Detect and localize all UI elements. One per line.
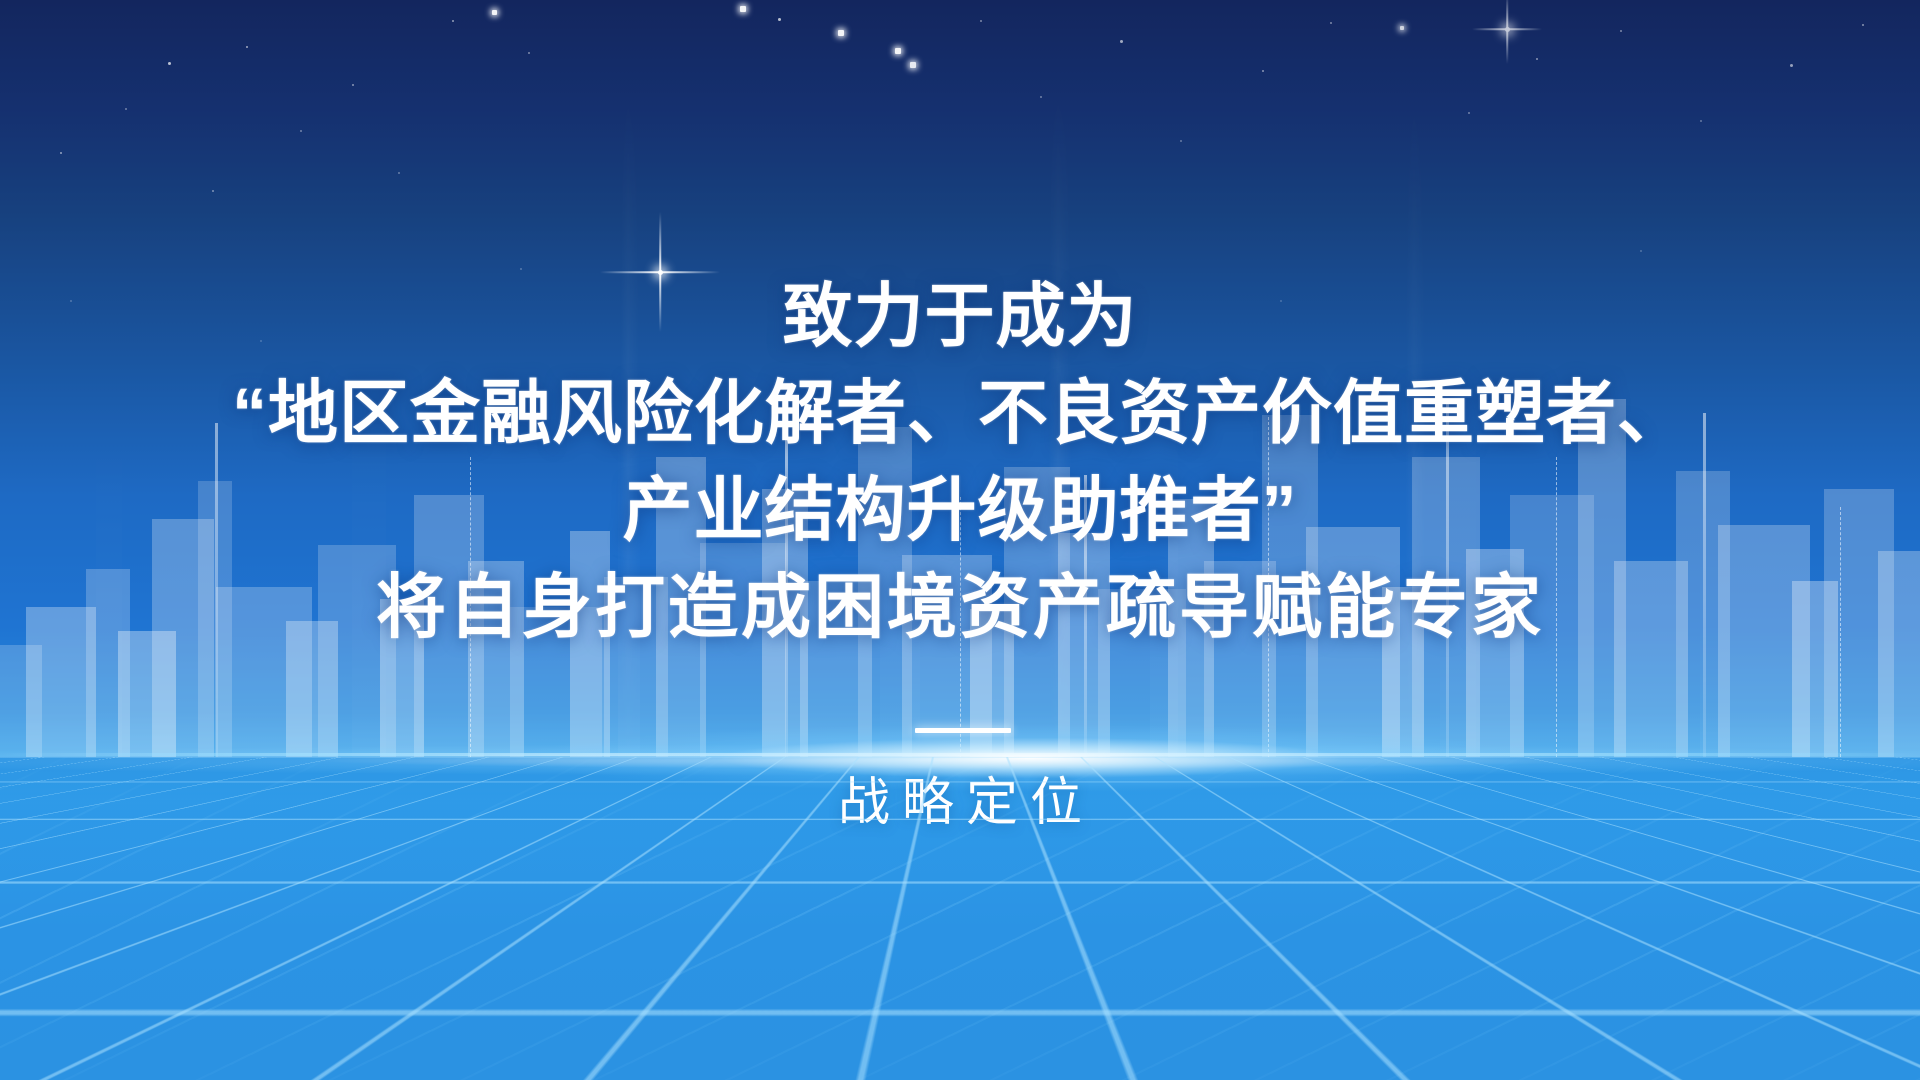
headline-line-4: 将自身打造成困境资产疏导赋能专家 [0, 559, 1920, 656]
title-divider [915, 728, 1011, 733]
headline-line-3: 产业结构升级助推者” [0, 462, 1920, 559]
subtitle: 战略定位 [0, 760, 1920, 835]
headline-block: 致力于成为 “地区金融风险化解者、不良资产价值重塑者、 产业结构升级助推者” 将… [0, 268, 1920, 656]
headline-line-2: “地区金融风险化解者、不良资产价值重塑者、 [0, 365, 1920, 462]
slide-canvas: 致力于成为 “地区金融风险化解者、不良资产价值重塑者、 产业结构升级助推者” 将… [0, 0, 1920, 1080]
headline-line-1: 致力于成为 [0, 268, 1920, 365]
slide-content: 致力于成为 “地区金融风险化解者、不良资产价值重塑者、 产业结构升级助推者” 将… [0, 0, 1920, 1080]
